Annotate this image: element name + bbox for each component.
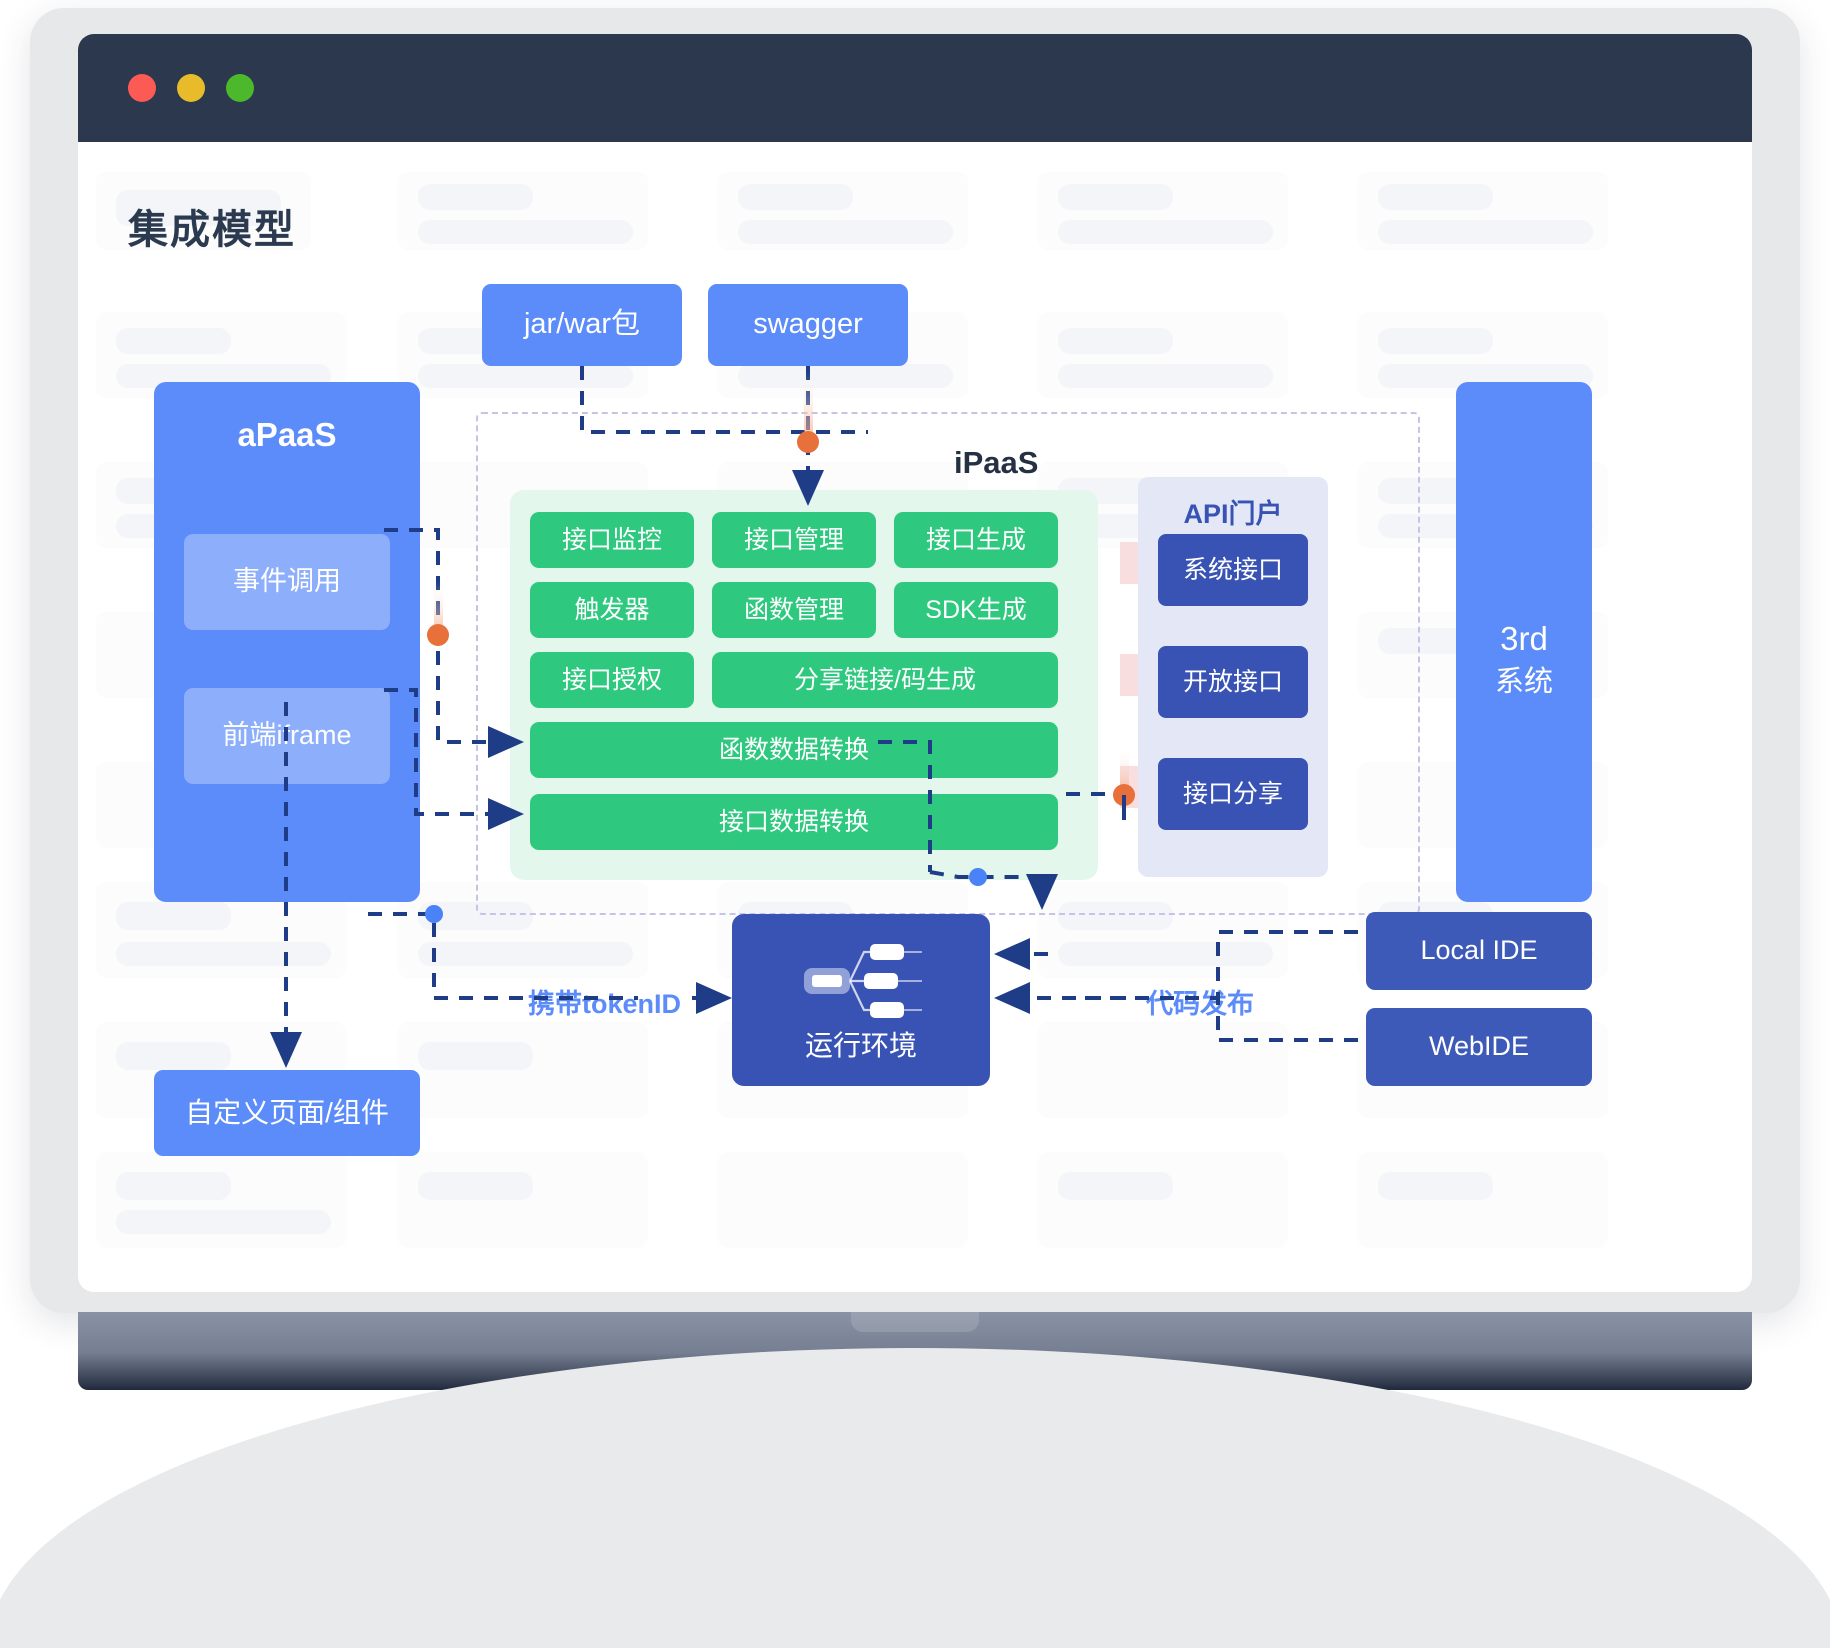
diagram-canvas: 集成模型 iPaaS jar/war包 swagger aPaaS 事件调用 前…	[78, 142, 1752, 1292]
apaas-title: aPaaS	[154, 414, 420, 457]
ide-box-web-ide[interactable]: WebIDE	[1366, 1008, 1592, 1086]
close-icon[interactable]	[128, 74, 156, 102]
source-box-swagger[interactable]: swagger	[708, 284, 908, 366]
laptop-body: 集成模型 iPaaS jar/war包 swagger aPaaS 事件调用 前…	[30, 8, 1800, 1313]
source-box-jar-war[interactable]: jar/war包	[482, 284, 682, 366]
custom-page-box[interactable]: 自定义页面/组件	[154, 1070, 420, 1156]
laptop-base-notch	[851, 1312, 979, 1332]
capability-api-monitor[interactable]: 接口监控	[530, 512, 694, 568]
page-title: 集成模型	[128, 197, 296, 255]
capability-api-authorize[interactable]: 接口授权	[530, 652, 694, 708]
capability-trigger[interactable]: 触发器	[530, 582, 694, 638]
api-portal-open-api[interactable]: 开放接口	[1158, 646, 1308, 718]
ide-box-local-ide[interactable]: Local IDE	[1366, 912, 1592, 990]
ipaas-title: iPaaS	[954, 445, 1038, 481]
third-party-line1: 3rd	[1456, 618, 1592, 661]
third-party-line2: 系统	[1456, 664, 1592, 702]
screen: 集成模型 iPaaS jar/war包 swagger aPaaS 事件调用 前…	[78, 34, 1752, 1292]
runtime-environment-label: 运行环境	[732, 1028, 990, 1064]
minimize-icon[interactable]	[177, 74, 205, 102]
apaas-panel[interactable]: aPaaS 事件调用 前端iframe	[154, 382, 420, 902]
runtime-environment-box[interactable]: 运行环境	[732, 914, 990, 1086]
capability-function-data-transform[interactable]: 函数数据转换	[530, 722, 1058, 778]
laptop-base-curve	[0, 1348, 1830, 1648]
maximize-icon[interactable]	[226, 74, 254, 102]
flow-label-token: 携带tokenID	[520, 982, 689, 1021]
apaas-item-frontend-iframe[interactable]: 前端iframe	[184, 688, 390, 784]
capability-api-data-transform[interactable]: 接口数据转换	[530, 794, 1058, 850]
capability-api-manage[interactable]: 接口管理	[712, 512, 876, 568]
apaas-item-event-call[interactable]: 事件调用	[184, 534, 390, 630]
capability-sdk-generate[interactable]: SDK生成	[894, 582, 1058, 638]
api-portal-system-api[interactable]: 系统接口	[1158, 534, 1308, 606]
capability-api-generate[interactable]: 接口生成	[894, 512, 1058, 568]
flow-label-code-publish: 代码发布	[1138, 982, 1262, 1021]
laptop-base	[78, 1312, 1752, 1390]
browser-titlebar	[78, 34, 1752, 142]
api-portal-title: API门户	[1138, 492, 1328, 531]
capability-share-link[interactable]: 分享链接/码生成	[712, 652, 1058, 708]
third-party-system-box[interactable]: 3rd 系统	[1456, 382, 1592, 902]
api-portal-api-share[interactable]: 接口分享	[1158, 758, 1308, 830]
branching-tree-icon	[798, 940, 928, 1020]
laptop-frame: 集成模型 iPaaS jar/war包 swagger aPaaS 事件调用 前…	[0, 0, 1830, 1397]
capability-function-manage[interactable]: 函数管理	[712, 582, 876, 638]
